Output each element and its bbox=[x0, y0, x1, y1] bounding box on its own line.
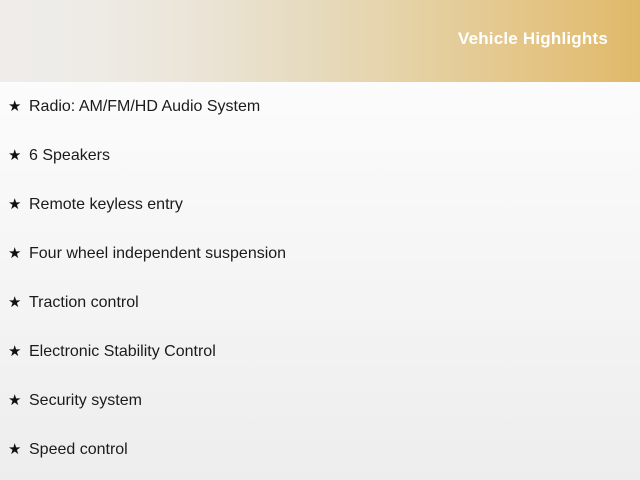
list-item-label: Remote keyless entry bbox=[29, 195, 183, 215]
star-icon: ★ bbox=[8, 148, 29, 163]
list-item: ★ Traction control bbox=[0, 278, 640, 327]
list-item-label: Security system bbox=[29, 391, 142, 411]
vehicle-highlights-panel: Vehicle Highlights ★ Radio: AM/FM/HD Aud… bbox=[0, 0, 640, 480]
list-item: ★ Remote keyless entry bbox=[0, 180, 640, 229]
page-title: Vehicle Highlights bbox=[458, 29, 608, 49]
list-item-label: Traction control bbox=[29, 293, 139, 313]
list-item: ★ Radio: AM/FM/HD Audio System bbox=[0, 82, 640, 131]
star-icon: ★ bbox=[8, 246, 29, 261]
list-item-label: Four wheel independent suspension bbox=[29, 244, 286, 264]
star-icon: ★ bbox=[8, 442, 29, 457]
star-icon: ★ bbox=[8, 344, 29, 359]
list-item-label: Electronic Stability Control bbox=[29, 342, 216, 362]
list-item: ★ Four wheel independent suspension bbox=[0, 229, 640, 278]
list-item: ★ 6 Speakers bbox=[0, 131, 640, 180]
list-item: ★ Electronic Stability Control bbox=[0, 327, 640, 376]
star-icon: ★ bbox=[8, 99, 29, 114]
vehicle-highlights-list: ★ Radio: AM/FM/HD Audio System ★ 6 Speak… bbox=[0, 82, 640, 474]
list-item-label: 6 Speakers bbox=[29, 146, 110, 166]
list-item-label: Speed control bbox=[29, 440, 128, 460]
list-item: ★ Security system bbox=[0, 376, 640, 425]
header-band: Vehicle Highlights bbox=[0, 0, 640, 82]
star-icon: ★ bbox=[8, 197, 29, 212]
star-icon: ★ bbox=[8, 295, 29, 310]
list-item: ★ Speed control bbox=[0, 425, 640, 474]
star-icon: ★ bbox=[8, 393, 29, 408]
list-item-label: Radio: AM/FM/HD Audio System bbox=[29, 97, 260, 117]
